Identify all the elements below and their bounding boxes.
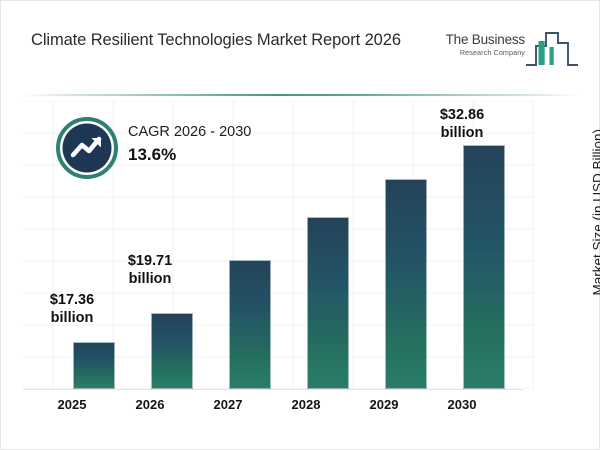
trending-up-icon	[56, 117, 118, 179]
brand-name-secondary: Research Company	[429, 49, 525, 56]
y-axis-title: Market Size (in USD Billion)	[591, 129, 600, 296]
value-label-2026-unit: billion	[111, 270, 189, 288]
bar-2026[interactable]	[151, 313, 193, 389]
bar-2029[interactable]	[385, 179, 427, 389]
bar-2025[interactable]	[73, 342, 115, 389]
brand-name-primary: The Business	[429, 33, 525, 47]
cagr-value-label: 13.6%	[128, 144, 251, 167]
value-label-2025-amount: $17.36	[33, 291, 111, 309]
bar-2028[interactable]	[307, 217, 349, 389]
value-label-2030: $32.86 billion	[423, 106, 501, 142]
x-axis-label-2029: 2029	[346, 397, 422, 412]
value-label-2026-amount: $19.71	[111, 252, 189, 270]
brand-logo: The Business Research Company	[429, 27, 579, 75]
chart-baseline	[23, 389, 523, 390]
bar-2030[interactable]	[463, 145, 505, 389]
bar-2027[interactable]	[229, 260, 271, 389]
x-axis-label-2030: 2030	[424, 397, 500, 412]
x-axis-label-2028: 2028	[268, 397, 344, 412]
x-axis-label-2026: 2026	[112, 397, 188, 412]
value-label-2030-unit: billion	[423, 124, 501, 142]
brand-logo-text: The Business Research Company	[429, 33, 525, 56]
cagr-range-label: CAGR 2026 - 2030	[128, 123, 251, 143]
value-label-2030-amount: $32.86	[423, 106, 501, 124]
value-label-2025: $17.36 billion	[33, 291, 111, 327]
value-label-2026: $19.71 billion	[111, 252, 189, 288]
value-label-2025-unit: billion	[33, 309, 111, 327]
x-axis-label-2025: 2025	[34, 397, 110, 412]
chart-page: Climate Resilient Technologies Market Re…	[0, 0, 600, 450]
bar-chart-logo-mark-icon	[525, 27, 579, 71]
page-header: Climate Resilient Technologies Market Re…	[1, 1, 600, 89]
header-divider	[23, 94, 579, 96]
page-title: Climate Resilient Technologies Market Re…	[31, 29, 401, 52]
x-axis-label-2027: 2027	[190, 397, 266, 412]
cagr-text-block: CAGR 2026 - 2030 13.6%	[128, 123, 251, 167]
